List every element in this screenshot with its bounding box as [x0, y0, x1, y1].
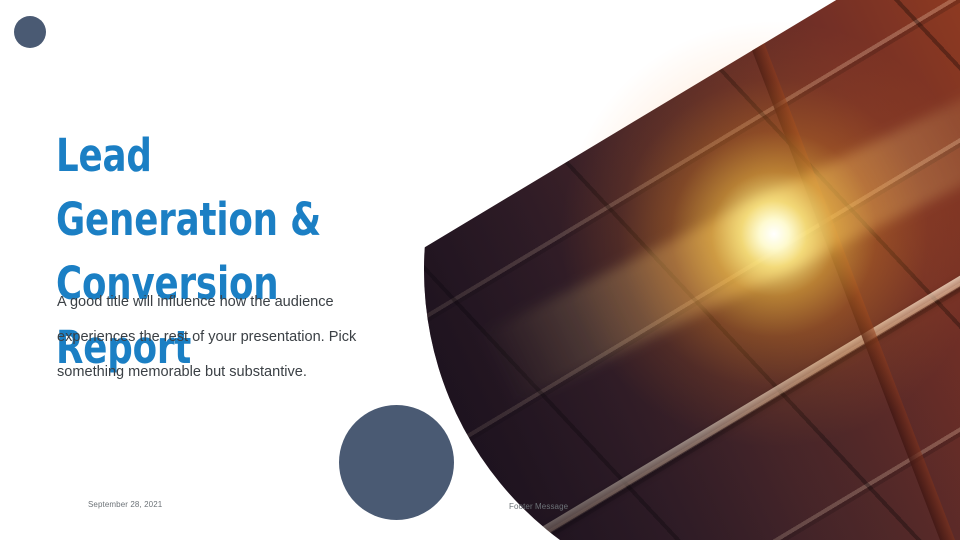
presentation-slide: Lead Generation & Conversion Report A go…: [0, 0, 960, 540]
slide-subtitle: A good title will influence how the audi…: [57, 284, 395, 389]
hero-image-solar-panels: [424, 0, 960, 540]
slide-date: September 28, 2021: [88, 500, 162, 509]
hero-image-inner: [424, 0, 960, 540]
decorative-circle-top-left: [14, 16, 46, 48]
slide-footer-message: Footer Message: [509, 502, 568, 511]
